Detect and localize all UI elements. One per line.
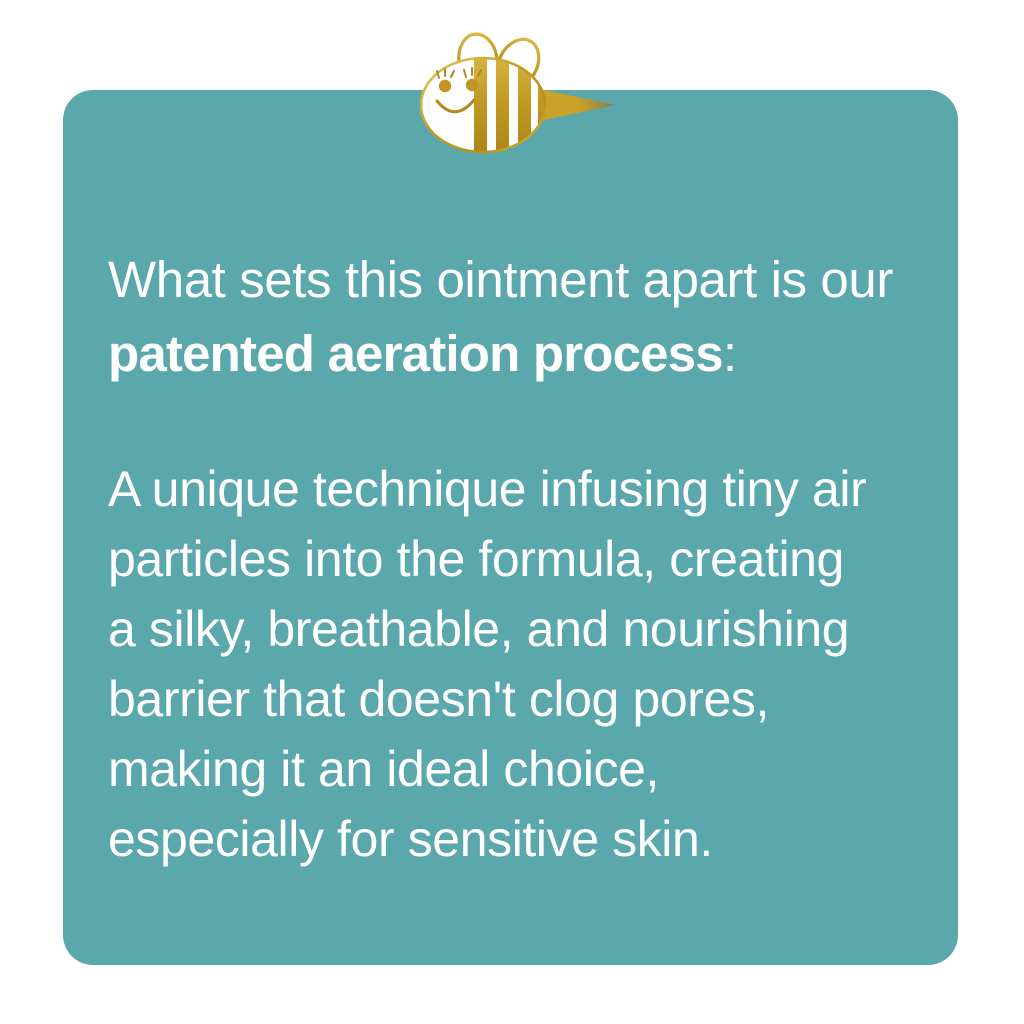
- headline-lead-text: What sets this ointment apart is our: [108, 251, 893, 308]
- headline-emphasis: patented aeration process: [108, 325, 723, 382]
- body-line: making it an ideal choice,: [108, 734, 938, 804]
- bee-mascot-illustration: [408, 22, 628, 182]
- right-eye-icon: [466, 79, 478, 91]
- body-line: particles into the formula, creating: [108, 524, 938, 594]
- body-line: barrier that doesn't clog pores,: [108, 664, 938, 734]
- body-paragraph: A unique technique infusing tiny air par…: [108, 391, 938, 874]
- card-copy-block: What sets this ointment apart is our pat…: [108, 243, 938, 874]
- promotional-card-canvas: What sets this ointment apart is our pat…: [0, 0, 1024, 1024]
- headline-colon: :: [723, 325, 737, 382]
- body-line: A unique technique infusing tiny air: [108, 454, 938, 524]
- body-line: especially for sensitive skin.: [108, 804, 938, 874]
- left-eye-icon: [439, 80, 451, 92]
- headline: What sets this ointment apart is our pat…: [108, 243, 938, 391]
- body-line: a silky, breathable, and nourishing: [108, 594, 938, 664]
